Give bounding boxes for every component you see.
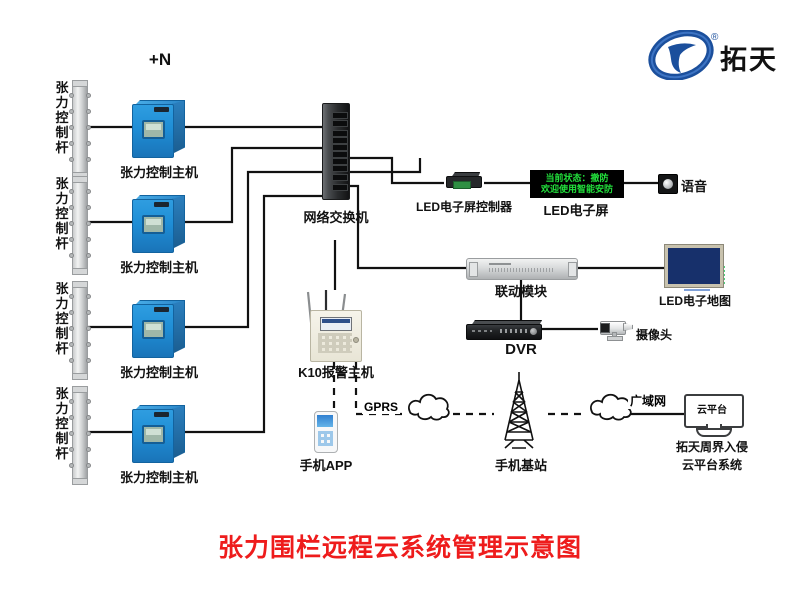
phone-app-label: 手机APP [292,455,360,474]
voice-speaker [658,174,678,194]
cell-tower-icon [505,372,533,448]
base-station-label: 手机基站 [483,455,559,474]
surveillance-camera [598,319,632,339]
host-label-2: 张力控制主机 [113,257,205,276]
host-label-3: 张力控制主机 [113,362,205,381]
diagram-title: 张力围栏远程云系统管理示意图 [0,528,800,564]
dvr-label: DVR [481,341,561,358]
tension-control-host-1 [132,98,184,156]
host-label-4: 张力控制主机 [113,467,205,486]
led-screen-line1: 当前状态：撤防 [545,173,608,184]
tension-control-host-3 [132,298,184,356]
k10-label: K10报警主机 [290,362,382,381]
network-switch [322,103,350,200]
brand-name: 拓天 [720,38,778,77]
cloud-platform-monitor: 云平台 [684,394,740,434]
linkage-module-label: 联动模块 [483,281,559,300]
mobile-phone [314,411,338,453]
camera-label: 摄像头 [636,326,690,343]
led-display-screen: 当前状态：撤防 欢迎使用智能安防 [530,170,624,198]
tension-control-host-2 [132,193,184,251]
led-screen-line2: 欢迎使用智能安防 [541,184,613,195]
brand-logo: 拓天 ® [648,30,788,82]
linkage-module [466,258,578,280]
voice-label: 语音 [681,176,721,195]
led-electronic-map [664,244,724,288]
tension-pole-label-2: 张力控制杆 [54,176,70,251]
tuotian-logo-icon [648,30,718,80]
wan-link-label: 广域网 [628,392,668,409]
led-controller-label: LED电子屏控制器 [412,198,516,215]
tension-pole-label-4: 张力控制杆 [54,386,70,461]
led-controller-body [444,172,484,188]
host-label-1: 张力控制主机 [113,162,205,181]
led-screen-label: LED电子屏 [530,200,622,219]
diagram-canvas: 拓天 ® +N 张力控制杆 张力控制杆 [0,0,800,600]
cloud-platform-label-line1: 拓天周界入侵 [652,438,772,455]
network-switch-label: 网络交换机 [290,207,382,226]
tension-pole-label-1: 张力控制杆 [54,80,70,155]
tension-pole-label-3: 张力控制杆 [54,281,70,356]
tension-control-host-4 [132,403,184,461]
k10-alarm-host [310,310,362,362]
plus-n-label: +N [130,50,190,70]
led-map-label: LED电子地图 [650,292,740,309]
trademark-symbol: ® [711,32,718,43]
cloud-platform-screen-text: 云平台 [684,401,740,416]
gprs-link-label: GPRS [362,400,400,414]
dvr-recorder [466,320,540,338]
cloud-platform-label-line2: 云平台系统 [652,456,772,473]
